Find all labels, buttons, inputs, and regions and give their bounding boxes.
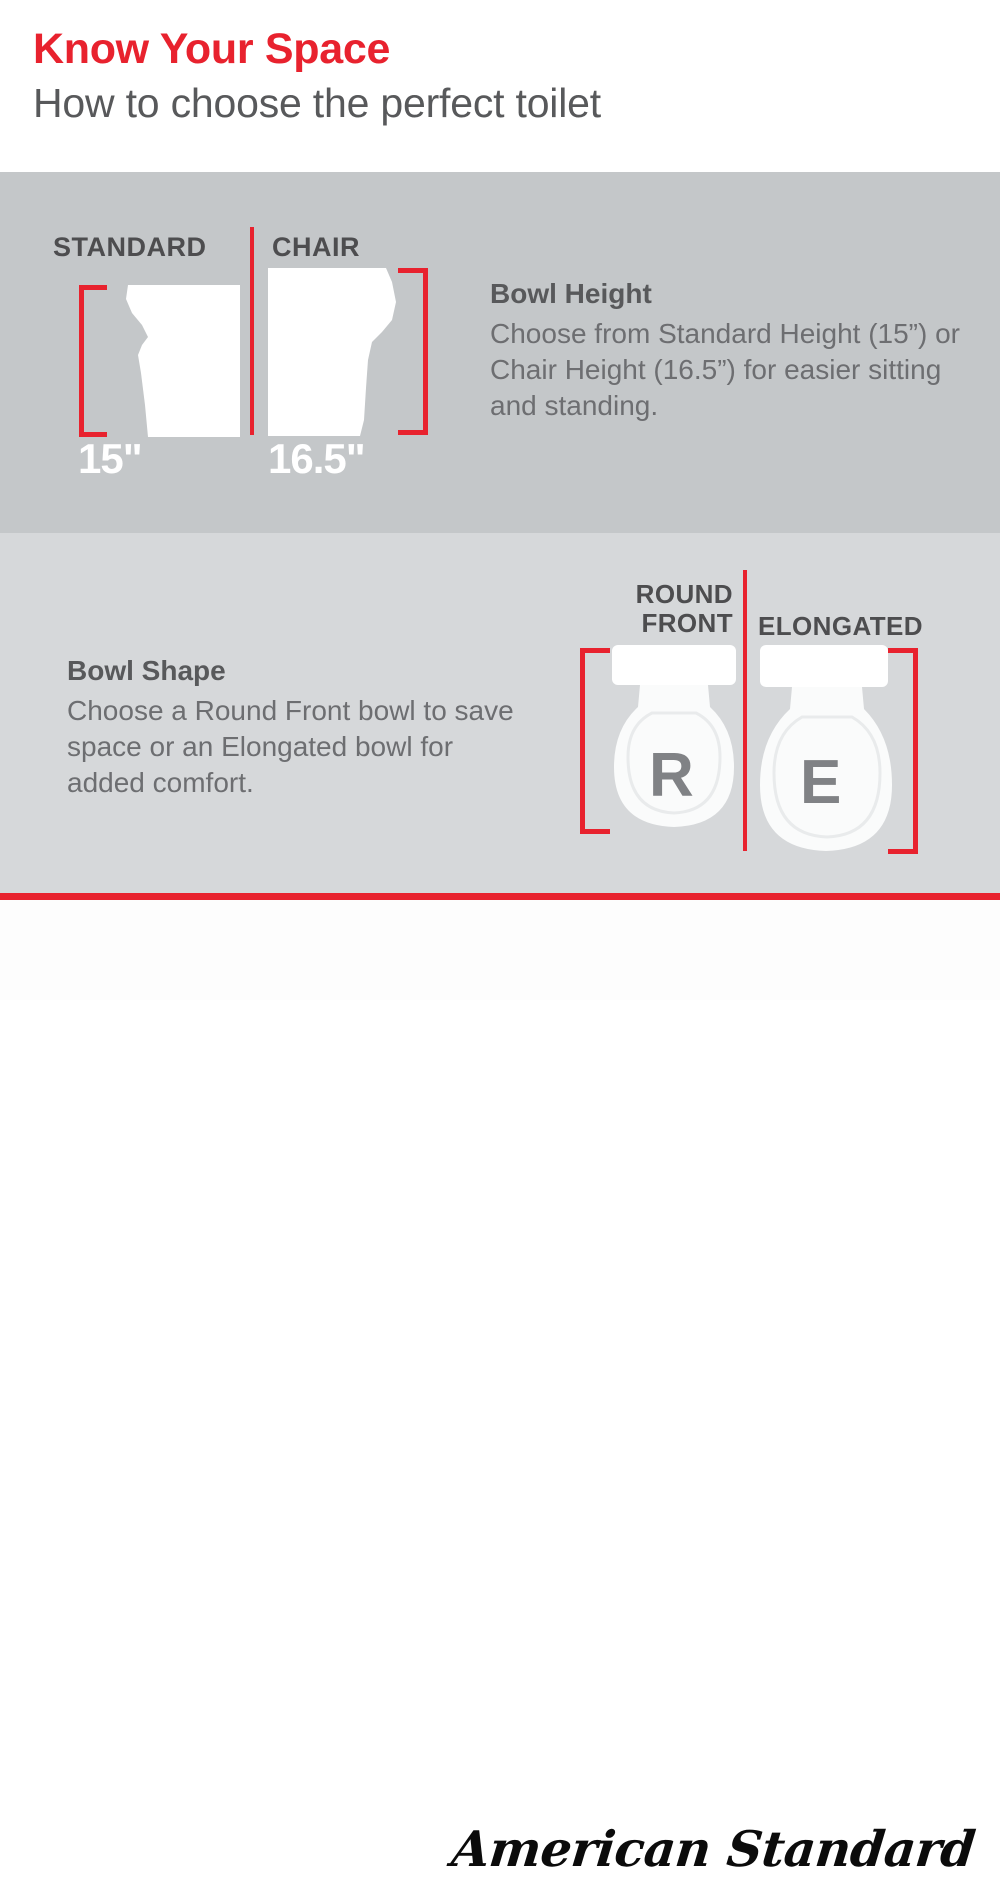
bowl-letter-round-front: R xyxy=(649,745,694,807)
measure-bracket-chair xyxy=(398,268,428,435)
bracket-bar xyxy=(580,648,585,834)
bowl-shape-description: Choose a Round Front bowl to save space … xyxy=(67,693,537,800)
measurement-chair: 16.5" xyxy=(268,438,365,480)
page-title: Know Your Space xyxy=(33,28,390,71)
bowl-letter-elongated: E xyxy=(800,752,841,814)
bowl-shape-heading: Bowl Shape xyxy=(67,655,537,687)
infographic-page: Know Your Space How to choose the perfec… xyxy=(0,0,1000,1000)
bracket-arm-bottom xyxy=(398,430,428,435)
vertical-divider-shape xyxy=(743,570,747,851)
toilet-side-view-chair-icon xyxy=(268,268,398,436)
label-standard: STANDARD xyxy=(53,232,207,263)
label-round-front: ROUND FRONT xyxy=(608,580,733,638)
vertical-divider-height xyxy=(250,227,254,435)
footer-red-rule xyxy=(0,893,1000,900)
toilet-side-view-standard-icon xyxy=(108,285,240,437)
header: Know Your Space How to choose the perfec… xyxy=(0,0,1000,172)
bracket-arm-top xyxy=(79,285,107,290)
bracket-bar xyxy=(79,285,84,437)
bowl-height-info: Bowl Height Choose from Standard Height … xyxy=(490,278,960,424)
label-elongated: ELONGATED xyxy=(758,611,923,642)
measurement-standard: 15" xyxy=(78,438,142,480)
bracket-arm-top xyxy=(398,268,428,273)
label-chair: CHAIR xyxy=(272,232,360,263)
page-subtitle: How to choose the perfect toilet xyxy=(33,83,601,124)
bracket-bar xyxy=(913,648,918,854)
footer: American Standard xyxy=(0,900,1000,1000)
bowl-height-description: Choose from Standard Height (15”) or Cha… xyxy=(490,316,960,423)
bowl-shape-info: Bowl Shape Choose a Round Front bowl to … xyxy=(67,655,537,801)
bowl-height-heading: Bowl Height xyxy=(490,278,960,310)
brand-logo: American Standard xyxy=(449,1820,978,1878)
bracket-bar xyxy=(423,268,428,435)
measure-bracket-standard xyxy=(79,285,107,437)
